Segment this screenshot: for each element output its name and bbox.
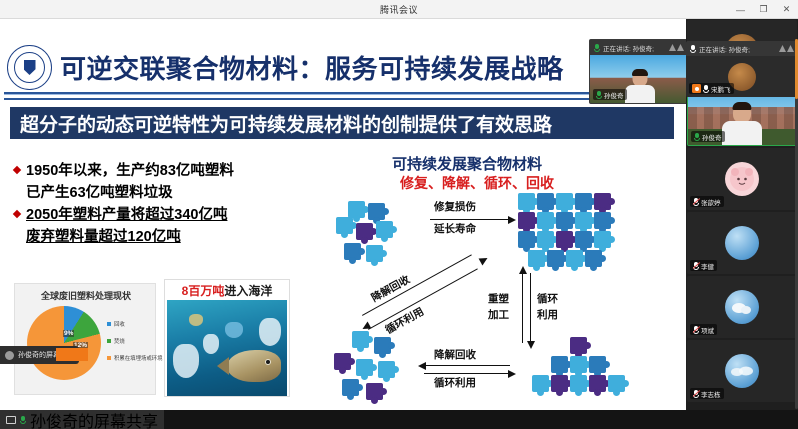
- floating-speaker-window-small[interactable]: 正在讲话: 孙俊奇; 孙俊奇: [589, 39, 689, 104]
- participant-name: 孙俊奇: [604, 90, 624, 100]
- microphone-muted-icon: [693, 326, 699, 334]
- arrow-shaft-reshape: [522, 273, 523, 343]
- participant-video-person: [720, 103, 764, 145]
- legend-swatch: [107, 339, 111, 343]
- participant-name: 李志栋: [701, 389, 721, 399]
- participant-tile-zhangxinting[interactable]: 张歆婷: [687, 148, 797, 210]
- speaker-person-small: [624, 70, 656, 104]
- arrow-shaft-bottom-a: [424, 365, 510, 366]
- close-button[interactable]: ✕: [775, 0, 798, 19]
- title-divider: [4, 92, 682, 95]
- list-item: 1950年以来，生产约83亿吨塑料: [14, 161, 334, 182]
- legend-item: 回收: [107, 320, 163, 328]
- photo-caption: 8百万吨进入海洋: [165, 280, 289, 300]
- bullet-list: 1950年以来，生产约83亿吨塑料 已产生63亿吨塑料垃圾 2050年塑料产量将…: [14, 161, 334, 247]
- participant-name: 张歆婷: [701, 197, 721, 207]
- speaking-status-bar: 正在讲话: 孙俊奇;: [686, 41, 798, 56]
- bullet-line: 废弃塑料量超过120亿吨: [26, 227, 334, 248]
- microphone-icon: [694, 133, 700, 141]
- chevron-down-icon[interactable]: [669, 44, 684, 51]
- legend-swatch: [107, 322, 111, 326]
- speaker-nametag-small: 孙俊奇: [593, 89, 627, 100]
- floating-speaker-window[interactable]: 正在讲话: 孙俊奇; 宋鹏飞: [686, 41, 798, 97]
- participant-tile-xiangbin[interactable]: 项斌: [687, 276, 797, 338]
- minimize-button[interactable]: —: [729, 0, 752, 19]
- list-item: 2050年塑料产量将超过340亿吨: [14, 205, 334, 226]
- microphone-icon: [596, 91, 602, 99]
- screen-share-status[interactable]: 孙俊奇的屏幕共享: [0, 410, 164, 429]
- arrow-label-cycle: 循环利用: [383, 306, 426, 338]
- floating-speaker-nametag: 宋鹏飞: [689, 83, 734, 94]
- chart-legend: 回收 焚烧 积累在填埋场或环境: [107, 320, 163, 371]
- avatar: [725, 162, 759, 196]
- diagram-heading-secondary: 修复、降解、循环、回收: [400, 173, 554, 193]
- arrow-shaft-repair: [430, 219, 510, 220]
- slide-banner: 超分子的动态可逆特性为可持续发展材料的创制提供了有效思路: [10, 107, 674, 139]
- avatar: [725, 226, 759, 260]
- diamond-bullet-icon: [13, 210, 21, 218]
- legend-item: 积累在填埋场或环境: [107, 354, 163, 362]
- participant-nametag: 张歆婷: [690, 196, 724, 207]
- avatar: [725, 290, 759, 324]
- arrow-label-reshape-2: 加工: [488, 309, 509, 322]
- legend-swatch: [107, 356, 111, 360]
- participant-name: 孙俊奇: [702, 132, 722, 142]
- participant-nametag: 项斌: [690, 324, 717, 335]
- participant-nametag: 李志栋: [690, 388, 724, 399]
- diagram-heading-primary: 可持续发展聚合物材料: [392, 153, 542, 174]
- title-divider-secondary: [4, 98, 682, 100]
- microphone-muted-icon: [693, 262, 699, 270]
- arrow-label-repair-bottom: 延长寿命: [434, 223, 476, 236]
- arrow-label-cycle-1: 循环: [537, 293, 558, 306]
- legend-item: 焚烧: [107, 337, 163, 345]
- participant-tile-lijian[interactable]: 李健: [687, 212, 797, 274]
- ocean-photo-card: 8百万吨进入海洋: [164, 279, 290, 397]
- screen-share-icon: [6, 416, 16, 424]
- speaking-status-bar-small: 正在讲话: 孙俊奇;: [590, 40, 688, 55]
- bullet-line: 1950年以来，生产约83亿吨塑料: [26, 161, 234, 182]
- shared-screen-area[interactable]: 可逆交联聚合物材料：服务可持续发展战略 超分子的动态可逆特性为可持续发展材料的创…: [0, 19, 686, 410]
- participant-name: 项斌: [701, 325, 714, 335]
- legend-label: 积累在填埋场或环境: [114, 354, 163, 362]
- arrow-head-degrade-up: [479, 255, 490, 266]
- maximize-button[interactable]: ❐: [752, 0, 775, 19]
- arrow-head-bottom-right: [508, 370, 516, 378]
- host-icon: [692, 84, 701, 93]
- fish-illustration: [227, 350, 281, 382]
- avatar: [725, 354, 759, 388]
- microphone-muted-icon: [693, 390, 699, 398]
- tencent-meeting-window: 腾讯会议 — ❐ ✕ 可逆交联聚合物材料：服务可持续发展战略 超分子的动态可逆特…: [0, 0, 798, 429]
- window-controls: — ❐ ✕: [729, 0, 798, 19]
- arrow-shaft-recycle: [530, 273, 531, 343]
- status-text: 孙俊奇的屏幕共享: [30, 408, 158, 429]
- photo-caption-rest: 进入海洋: [224, 282, 272, 299]
- photo-caption-highlight: 8百万吨: [182, 282, 225, 299]
- microphone-icon: [20, 416, 26, 424]
- speaking-label: 正在讲话: 孙俊奇;: [699, 44, 750, 54]
- presentation-slide: 可逆交联聚合物材料：服务可持续发展战略 超分子的动态可逆特性为可持续发展材料的创…: [0, 19, 686, 410]
- microphone-muted-icon: [693, 198, 699, 206]
- arrow-label-bottom-cycle: 循环利用: [434, 377, 476, 390]
- meeting-stage: 可逆交联聚合物材料：服务可持续发展战略 超分子的动态可逆特性为可持续发展材料的创…: [0, 19, 798, 429]
- participant-tile-lizhidong[interactable]: 李志栋: [687, 340, 797, 402]
- microphone-icon: [703, 85, 709, 93]
- participant-nametag: 李健: [690, 260, 717, 271]
- university-seal-icon: [7, 45, 52, 90]
- microphone-icon: [594, 44, 600, 52]
- share-highlight-bar: [56, 348, 88, 361]
- chevron-collapse-icon[interactable]: [779, 45, 794, 52]
- legend-label: 焚烧: [114, 337, 125, 345]
- participant-name: 李健: [701, 261, 714, 271]
- participant-name: 宋鹏飞: [711, 84, 731, 94]
- sustainable-polymer-diagram: 可持续发展聚合物材料 修复、降解、循环、回收: [322, 153, 684, 403]
- microphone-icon: [690, 45, 696, 53]
- speaking-label-small: 正在讲话: 孙俊奇;: [603, 43, 654, 53]
- arrow-label-repair-top: 修复损伤: [434, 201, 476, 214]
- chart-title: 全球废旧塑料处理现状: [15, 289, 157, 302]
- arrow-head-reshape-up: [519, 266, 527, 274]
- participant-nametag: 孙俊奇: [691, 131, 725, 142]
- legend-label: 回收: [114, 320, 125, 328]
- arrow-head-recycle-down: [527, 341, 535, 349]
- share-status-icon: [5, 351, 14, 360]
- bullet-line: 2050年塑料产量将超过340亿吨: [26, 205, 227, 226]
- arrow-label-bottom-degrade: 降解回收: [434, 349, 476, 362]
- arrow-label-reshape-1: 重塑: [488, 293, 509, 306]
- window-title-bar: 腾讯会议 — ❐ ✕: [0, 0, 798, 19]
- arrow-label-cycle-2: 利用: [537, 309, 558, 322]
- pie-chart-card: 全球废旧塑料处理现状 9% 12% 回收 焚烧: [14, 283, 156, 395]
- arrow-head-bottom-left: [418, 362, 426, 370]
- ocean-plastic-photo: [167, 300, 287, 396]
- bullet-line: 已产生63亿吨塑料垃圾: [26, 183, 334, 204]
- diamond-bullet-icon: [13, 166, 21, 174]
- arrow-head-repair: [508, 216, 516, 224]
- pie-chart: [27, 306, 101, 380]
- arrow-shaft-bottom-b: [424, 373, 510, 374]
- pie-slice-label-recycle: 9%: [63, 330, 74, 337]
- app-title: 腾讯会议: [380, 3, 418, 16]
